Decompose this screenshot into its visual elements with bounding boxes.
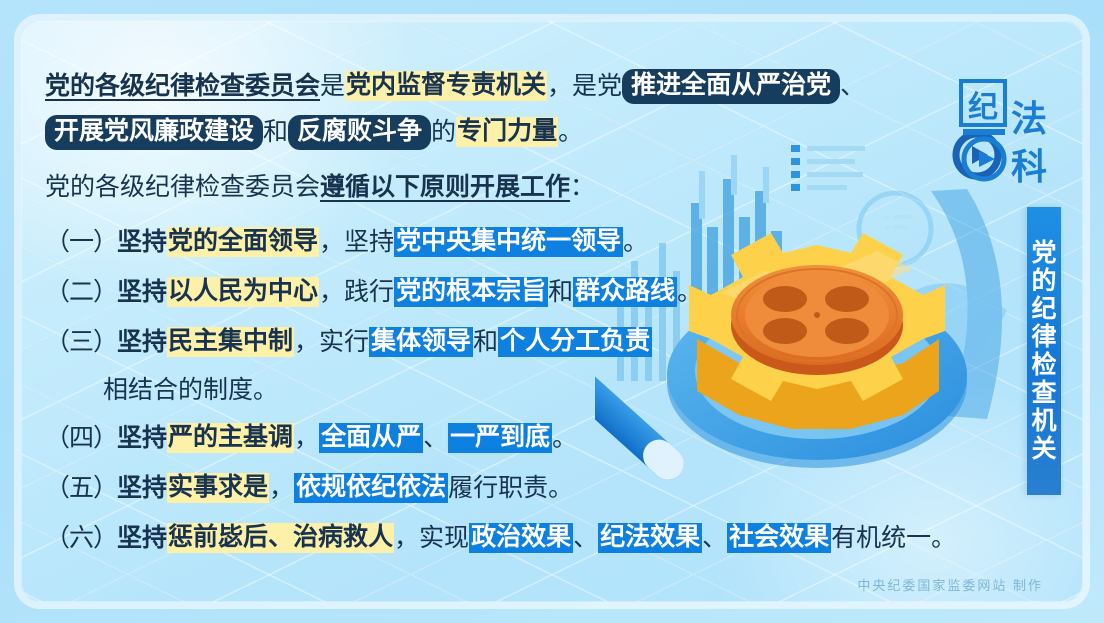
poster-inner-panel: 党的各级纪律检查委员会是党内监督专责机关，是党推进全面从严治党、 开展党风廉政建… <box>21 21 1083 602</box>
lead-text-2: ，是党 <box>547 74 622 99</box>
lead-highlight-yellow-1: 党内监督专责机关 <box>345 71 547 101</box>
clause-1-yellow: 党的全面领导 <box>167 227 319 257</box>
clause-6-yellow: 惩前毖后、治病救人 <box>167 523 394 553</box>
clause-2-blue2: 群众路线 <box>573 277 677 307</box>
lead-line-1: 党的各级纪律检查委员会是党内监督专责机关，是党推进全面从严治党、 <box>45 63 945 109</box>
v-banner-char-1: 的 <box>1031 269 1056 294</box>
clause-6-blue2: 纪法效果 <box>598 523 702 553</box>
clause-5-yellow: 实事求是 <box>167 473 269 503</box>
footer-credit: 中央纪委国家监委网站 制作 <box>857 575 1043 594</box>
clause-6-lead: 坚持 <box>117 526 167 551</box>
clause-item-2: （二）坚持以人民为中心，践行党的根本宗旨和群众路线。 <box>45 267 945 317</box>
lead-pill-1: 推进全面从严治党 <box>622 69 840 104</box>
clause-4-tail: 。 <box>552 426 577 451</box>
lead-pill-2: 开展党风廉政建设 <box>45 115 263 150</box>
logo-play-circle-icon <box>963 129 1005 179</box>
lead-line-2: 开展党风廉政建设和反腐败斗争的专门力量。 <box>45 109 945 155</box>
lead-text-4: 和 <box>263 120 288 145</box>
lead-text-5: 的 <box>431 120 456 145</box>
clause-6-mid2: 、 <box>573 526 598 551</box>
lead-pill-3: 反腐败斗争 <box>288 115 431 150</box>
v-banner-char-7: 关 <box>1031 437 1056 462</box>
v-banner-char-6: 机 <box>1031 409 1056 434</box>
clause-6-tail: 有机统一。 <box>831 526 956 551</box>
clause-5-tail: 履行职责。 <box>448 476 573 501</box>
clause-1-blue: 党中央集中统一领导 <box>394 227 623 257</box>
clause-1-lead: 坚持 <box>117 230 167 255</box>
clause-item-3-continuation: 相结合的制度。 <box>45 367 945 413</box>
intro-paragraph: 党的各级纪律检查委员会遵循以下原则开展工作： <box>45 165 945 209</box>
clause-1-tail: 。 <box>623 230 648 255</box>
clause-3-number: （三） <box>45 330 117 355</box>
clause-6-blue: 政治效果 <box>469 523 573 553</box>
lead-text-6: 。 <box>558 120 583 145</box>
vertical-banner: 党 的 纪 律 检 查 机 关 <box>1027 207 1061 495</box>
clause-3-yellow: 民主集中制 <box>167 327 294 357</box>
clause-1-mid: ，坚持 <box>319 230 394 255</box>
lead-highlight-yellow-2: 专门力量 <box>456 117 558 147</box>
clause-3-blue: 集体领导 <box>369 327 473 357</box>
clause-3-mid: ，实行 <box>294 330 369 355</box>
logo-char-4: 科 <box>1011 147 1047 185</box>
v-banner-char-3: 律 <box>1031 325 1056 350</box>
v-banner-char-5: 查 <box>1031 381 1056 406</box>
lead-underline-1: 党的各级纪律检查委员会 <box>45 74 320 99</box>
clause-4-number: （四） <box>45 426 117 451</box>
v-banner-char-4: 检 <box>1031 353 1056 378</box>
clause-item-3: （三）坚持民主集中制，实行集体领导和个人分工负责 <box>45 317 945 367</box>
clause-3-lead: 坚持 <box>117 330 167 355</box>
clause-2-tail: 。 <box>677 280 702 305</box>
clause-1-number: （一） <box>45 230 117 255</box>
clause-5-lead: 坚持 <box>117 476 167 501</box>
lead-text-1: 是 <box>320 74 345 99</box>
clause-2-mid2: 和 <box>548 280 573 305</box>
lead-paragraph: 党的各级纪律检查委员会是党内监督专责机关，是党推进全面从严治党、 开展党风廉政建… <box>45 63 945 155</box>
intro-text-2: ： <box>570 175 595 200</box>
logo-jifa-baike: 纪 法 科 <box>955 79 1051 185</box>
clause-2-mid: ，践行 <box>319 280 394 305</box>
clause-4-mid2: 、 <box>423 426 448 451</box>
clause-4-mid: ， <box>294 426 319 451</box>
lead-text-3: 、 <box>840 74 865 99</box>
clause-3-blue2: 个人分工负责 <box>498 327 652 357</box>
clause-item-6: （六）坚持惩前毖后、治病救人，实现政治效果、纪法效果、社会效果有机统一。 <box>45 513 945 563</box>
content-text-column: 党的各级纪律检查委员会是党内监督专责机关，是党推进全面从严治党、 开展党风廉政建… <box>45 63 945 563</box>
clause-5-number: （五） <box>45 476 117 501</box>
poster-root: 党的各级纪律检查委员会是党内监督专责机关，是党推进全面从严治党、 开展党风廉政建… <box>0 0 1104 623</box>
clause-3-cont-text: 相结合的制度。 <box>103 378 278 403</box>
clause-5-mid: ， <box>269 476 294 501</box>
clause-3-mid2: 和 <box>473 330 498 355</box>
clause-2-yellow: 以人民为中心 <box>167 277 319 307</box>
intro-text-1: 党的各级纪律检查委员会 <box>45 175 320 200</box>
v-banner-char-2: 纪 <box>1031 297 1056 322</box>
clause-4-yellow: 严的主基调 <box>167 423 294 453</box>
clause-5-blue: 依规依纪依法 <box>294 473 448 503</box>
clause-6-blue3: 社会效果 <box>727 523 831 553</box>
logo-char-1: 纪 <box>968 91 998 124</box>
clause-item-1: （一）坚持党的全面领导，坚持党中央集中统一领导。 <box>45 217 945 267</box>
clause-2-number: （二） <box>45 280 117 305</box>
clause-6-number: （六） <box>45 526 117 551</box>
clause-4-blue2: 一严到底 <box>448 423 552 453</box>
clause-2-lead: 坚持 <box>117 280 167 305</box>
clause-4-lead: 坚持 <box>117 426 167 451</box>
clause-item-5: （五）坚持实事求是，依规依纪依法履行职责。 <box>45 463 945 513</box>
intro-underline: 遵循以下原则开展工作 <box>320 175 570 200</box>
clause-2-blue: 党的根本宗旨 <box>394 277 548 307</box>
clause-6-mid: ，实现 <box>394 526 469 551</box>
clause-4-blue: 全面从严 <box>319 423 423 453</box>
logo-char-2: 法 <box>1011 99 1047 139</box>
clause-item-4: （四）坚持严的主基调，全面从严、一严到底。 <box>45 413 945 463</box>
v-banner-char-0: 党 <box>1031 241 1056 266</box>
clause-6-mid3: 、 <box>702 526 727 551</box>
